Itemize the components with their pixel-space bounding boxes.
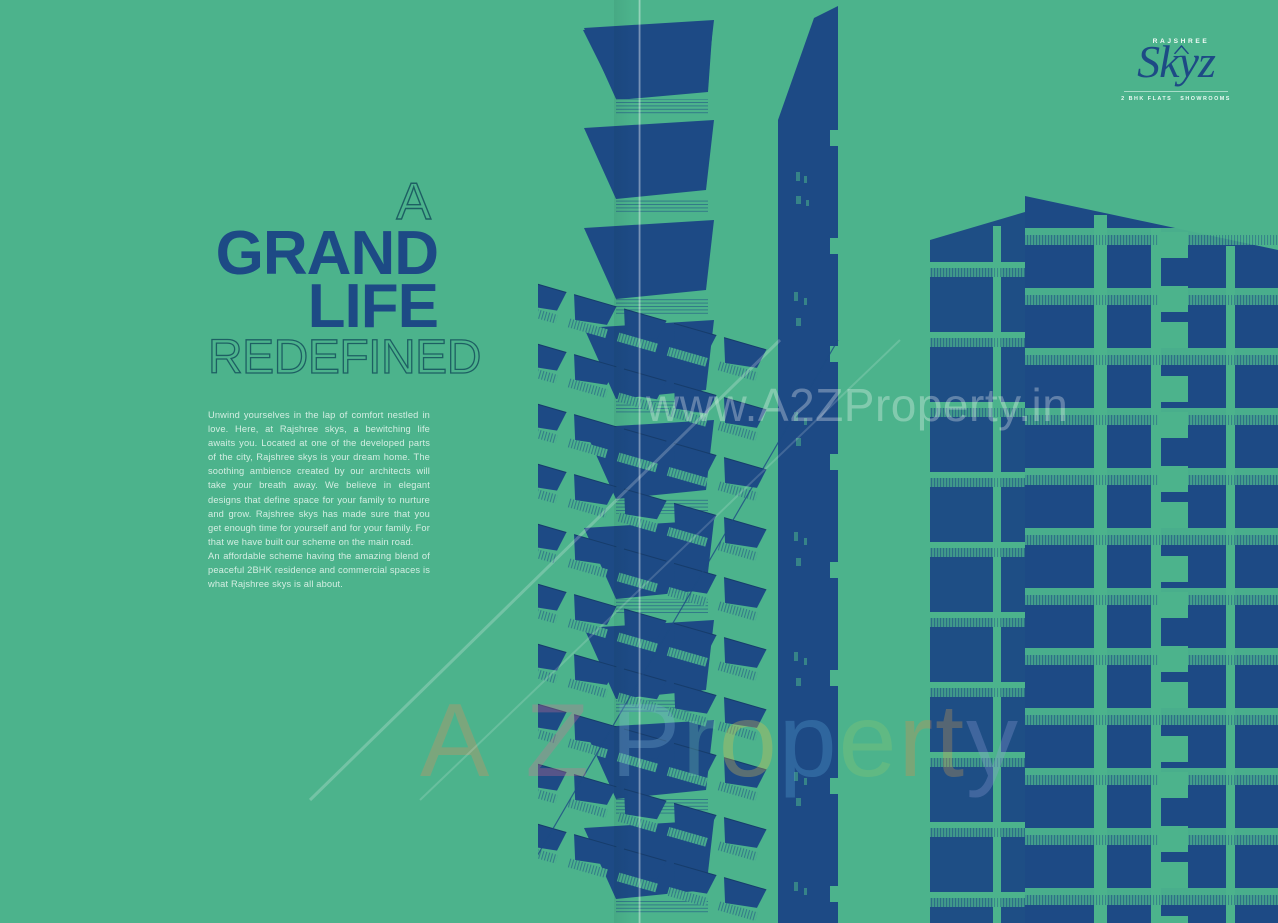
logo-wordmark-text: Skyz: [1137, 36, 1215, 87]
building-artwork: [538, 0, 1278, 923]
body-paragraph-1: Unwind yourselves in the lap of comfort …: [208, 408, 430, 549]
roof-chevron-icon: [1174, 45, 1189, 54]
logo-tagline-right: SHOWROOMS: [1180, 96, 1231, 102]
body-copy: Unwind yourselves in the lap of comfort …: [208, 408, 430, 591]
logo: RAJSHREE Skyz 2 BHK FLATS SHOWROOMS: [1122, 38, 1230, 102]
brochure-page: A GRAND LIFE REDEFINED Unwind yourselves…: [0, 0, 1278, 923]
watermark-letter: A: [420, 682, 491, 801]
logo-tagline-left: 2 BHK FLATS: [1121, 96, 1172, 102]
logo-tagline: 2 BHK FLATS SHOWROOMS: [1122, 96, 1230, 102]
headline-line-redefined: REDEFINED: [208, 335, 438, 381]
body-paragraph-2: An affordable scheme having the amazing …: [208, 549, 430, 591]
logo-wordmark: Skyz: [1122, 39, 1230, 85]
logo-divider: [1124, 91, 1228, 92]
page-title: A GRAND LIFE REDEFINED: [208, 178, 438, 381]
